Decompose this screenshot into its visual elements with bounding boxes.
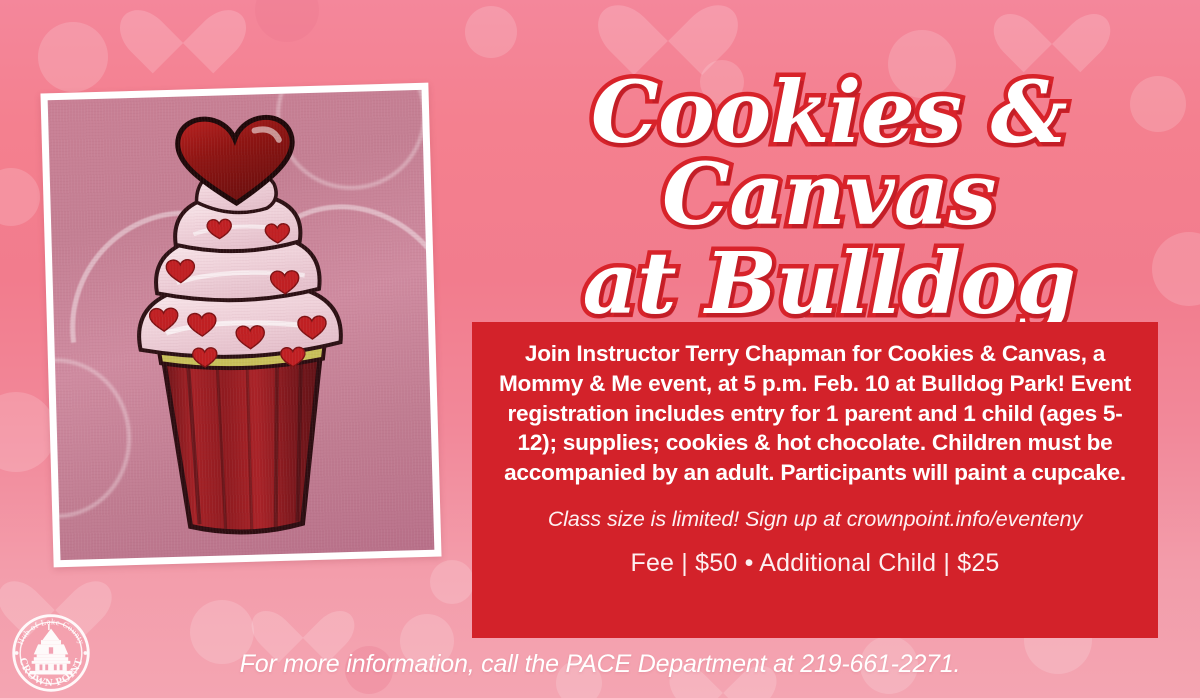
signup-instructions: Class size is limited! Sign up at crownp… <box>494 507 1136 532</box>
event-flyer: Cookies & Canvas at Bulldog Park Join In… <box>0 0 1200 698</box>
crown-point-city-seal: Hub of Lake County CROWN POINT <box>8 610 94 696</box>
event-details-panel: Join Instructor Terry Chapman for Cookie… <box>472 322 1158 638</box>
painting-canvas <box>48 90 435 560</box>
headline-line-1: Cookies & Canvas <box>466 72 1192 237</box>
cupcake-illustration <box>48 90 435 560</box>
fee-information: Fee | $50 • Additional Child | $25 <box>494 549 1136 578</box>
event-description: Join Instructor Terry Chapman for Cookie… <box>494 339 1136 488</box>
contact-footer: For more information, call the PACE Depa… <box>0 650 1200 679</box>
cupcake-painting-photo <box>40 83 441 568</box>
